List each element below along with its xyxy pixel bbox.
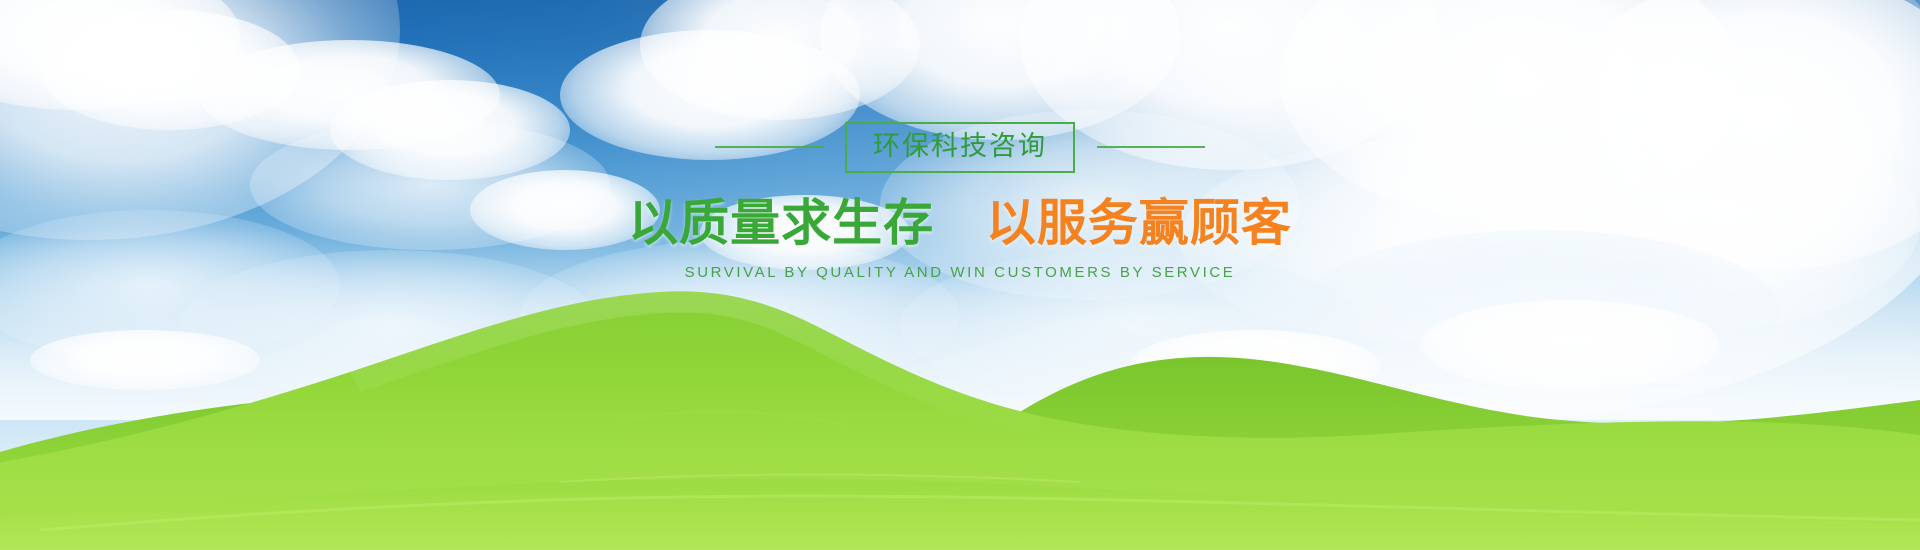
hero-banner: 环保科技咨询 以质量求生存 以服务赢顾客 SURVIVAL BY QUALITY… xyxy=(0,0,1920,550)
headline: 以质量求生存 以服务赢顾客 xyxy=(0,198,1920,248)
rule-right-icon xyxy=(1097,146,1205,148)
kicker-box: 环保科技咨询 xyxy=(845,122,1075,173)
kicker-label: 环保科技咨询 xyxy=(873,131,1047,161)
headline-part-green: 以质量求生存 xyxy=(628,195,934,251)
rule-left-icon xyxy=(715,146,823,148)
subheadline: SURVIVAL BY QUALITY AND WIN CUSTOMERS BY… xyxy=(0,264,1920,281)
headline-part-orange: 以服务赢顾客 xyxy=(986,195,1292,251)
kicker-row: 环保科技咨询 xyxy=(0,118,1920,176)
banner-text-block: 环保科技咨询 以质量求生存 以服务赢顾客 SURVIVAL BY QUALITY… xyxy=(0,118,1920,281)
